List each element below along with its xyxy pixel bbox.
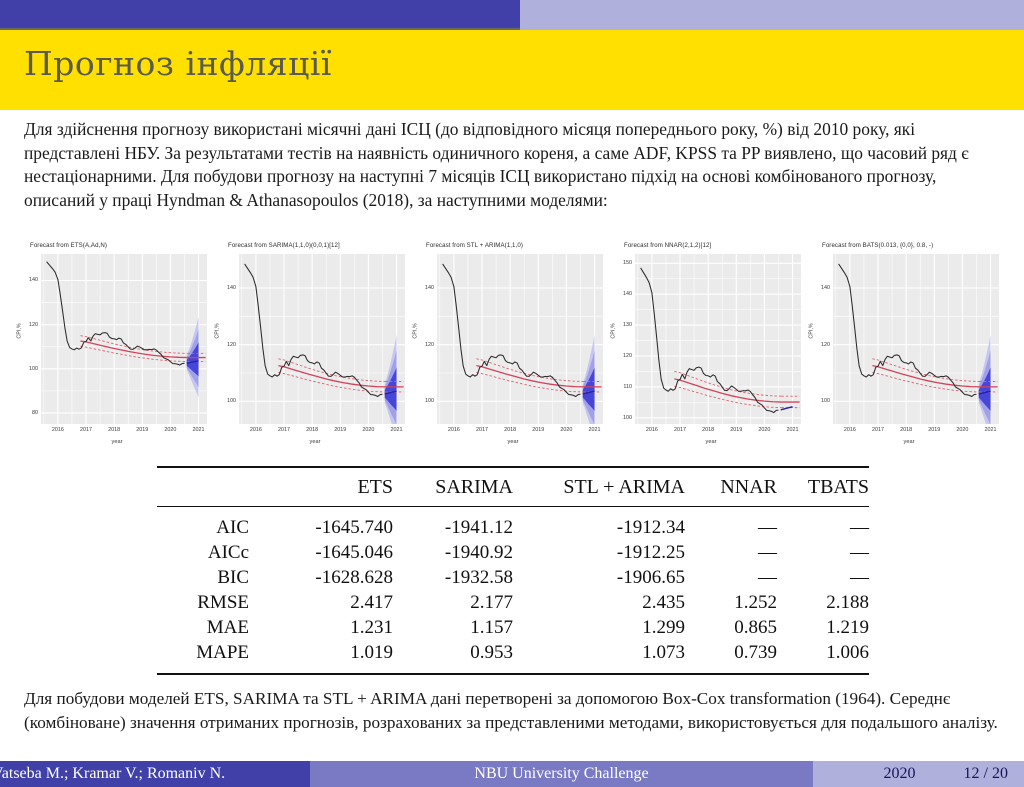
chart-x-tick: 2017 <box>278 427 290 433</box>
table-cell: 0.865 <box>685 615 777 640</box>
table-row: AIC -1645.740 -1941.12 -1912.34 — — <box>157 515 869 540</box>
chart-x-axis-label: year <box>612 439 810 445</box>
table-cell: -1912.34 <box>513 515 685 540</box>
chart-y-tick: 120 <box>425 342 434 348</box>
forecast-chart-bats: Forecast from BATS(0.013, {0,0}, 0.8, -)… <box>810 240 1008 445</box>
table-row: MAPE 1.019 0.953 1.073 0.739 1.006 <box>157 640 869 665</box>
chart-plot-area: 80100120140201620172018201920202021 <box>41 254 207 424</box>
chart-x-tick: 2016 <box>844 427 856 433</box>
chart-x-tick: 2017 <box>872 427 884 433</box>
metrics-table-body: AIC -1645.740 -1941.12 -1912.34 — — AICc… <box>157 507 869 675</box>
table-rule-cell <box>777 507 869 516</box>
chart-y-axis-label: CPI,% <box>17 323 23 338</box>
table-cell: 0.953 <box>393 640 513 665</box>
chart-x-tick: 2017 <box>476 427 488 433</box>
forecast-chart-strip: Forecast from ETS(A,Ad,N) CPI,% 80100120… <box>18 240 1010 445</box>
table-rule-cell <box>685 665 777 674</box>
table-row: BIC -1628.628 -1932.58 -1906.65 — — <box>157 565 869 590</box>
chart-y-axis-label: CPI,% <box>809 323 815 338</box>
chart-plot-area: 100120140201620172018201920202021 <box>833 254 999 424</box>
table-rule-cell <box>157 507 275 516</box>
table-rule-cell <box>513 665 685 674</box>
table-row-label: RMSE <box>157 590 275 615</box>
table-cell: 1.157 <box>393 615 513 640</box>
table-cell: -1645.740 <box>275 515 393 540</box>
table-rule-cell <box>513 507 685 516</box>
chart-x-tick: 2016 <box>646 427 658 433</box>
chart-y-tick: 110 <box>623 384 632 390</box>
chart-x-tick: 2020 <box>956 427 968 433</box>
table-col-header-nnar: NNAR <box>685 467 777 507</box>
footer-conference: NBU University Challenge <box>310 761 813 787</box>
table-rule-row <box>157 665 869 674</box>
table-rule-cell <box>157 665 275 674</box>
chart-x-tick: 2016 <box>448 427 460 433</box>
chart-x-axis-label: year <box>414 439 612 445</box>
table-rule-cell <box>393 507 513 516</box>
slide-footer: Vatseba M.; Kramar V.; Romaniv N. NBU Un… <box>0 761 1024 787</box>
table-cell: -1940.92 <box>393 540 513 565</box>
chart-y-tick: 150 <box>623 260 632 266</box>
chart-title: Forecast from NNAR(2,1,2)[12] <box>624 242 711 249</box>
footer-page-number: 12 / 20 <box>964 765 1008 783</box>
chart-svg <box>635 254 801 424</box>
table-cell: — <box>685 540 777 565</box>
chart-y-tick: 100 <box>425 398 434 404</box>
table-cell: — <box>685 565 777 590</box>
table-cell: — <box>685 515 777 540</box>
chart-x-tick: 2019 <box>136 427 148 433</box>
table-rule-cell <box>275 507 393 516</box>
chart-y-tick: 140 <box>425 285 434 291</box>
chart-y-axis-label: CPI,% <box>413 323 419 338</box>
table-cell: — <box>777 515 869 540</box>
table-row: RMSE 2.417 2.177 2.435 1.252 2.188 <box>157 590 869 615</box>
table-col-header-metric <box>157 467 275 507</box>
chart-title: Forecast from SARIMA(1,1,0)(0,0,1)[12] <box>228 242 340 249</box>
table-cell: -1906.65 <box>513 565 685 590</box>
table-cell: 2.188 <box>777 590 869 615</box>
table-cell: 2.177 <box>393 590 513 615</box>
chart-y-tick: 140 <box>29 277 38 283</box>
chart-y-tick: 140 <box>821 285 830 291</box>
chart-y-tick: 100 <box>29 366 38 372</box>
chart-title: Forecast from ETS(A,Ad,N) <box>30 242 107 249</box>
chart-title: Forecast from STL + ARIMA(1,1,0) <box>426 242 523 249</box>
table-cell: -1645.046 <box>275 540 393 565</box>
table-rule-cell <box>393 665 513 674</box>
chart-svg <box>833 254 999 424</box>
footer-authors: Vatseba M.; Kramar V.; Romaniv N. <box>0 761 310 787</box>
page-title: Прогноз інфляції <box>24 47 332 80</box>
table-row-label: BIC <box>157 565 275 590</box>
top-band-dark <box>0 0 520 30</box>
table-cell: -1932.58 <box>393 565 513 590</box>
chart-y-tick: 130 <box>623 322 632 328</box>
table-cell: 2.417 <box>275 590 393 615</box>
chart-y-tick: 120 <box>227 342 236 348</box>
metrics-table-head: ETS SARIMA STL + ARIMA NNAR TBATS <box>157 467 869 507</box>
table-row-label: AICc <box>157 540 275 565</box>
chart-x-tick: 2018 <box>108 427 120 433</box>
table-cell: 1.252 <box>685 590 777 615</box>
chart-x-tick: 2019 <box>730 427 742 433</box>
table-header-row: ETS SARIMA STL + ARIMA NNAR TBATS <box>157 467 869 507</box>
chart-y-tick: 140 <box>623 291 632 297</box>
chart-x-axis-label: year <box>810 439 1008 445</box>
chart-x-tick: 2020 <box>758 427 770 433</box>
top-band-light <box>520 0 1024 30</box>
chart-x-tick: 2018 <box>504 427 516 433</box>
intro-paragraph: Для здійснення прогнозу використані міся… <box>24 118 1004 212</box>
table-cell: 1.019 <box>275 640 393 665</box>
table-cell: 1.299 <box>513 615 685 640</box>
chart-y-tick: 120 <box>821 342 830 348</box>
chart-y-tick: 80 <box>32 410 38 416</box>
chart-svg <box>437 254 603 424</box>
chart-x-tick: 2019 <box>334 427 346 433</box>
table-row-label: AIC <box>157 515 275 540</box>
chart-y-axis-label: CPI,% <box>215 323 221 338</box>
table-cell: -1912.25 <box>513 540 685 565</box>
chart-x-tick: 2019 <box>928 427 940 433</box>
chart-y-tick: 120 <box>623 353 632 359</box>
chart-x-tick: 2018 <box>900 427 912 433</box>
table-row: AICc -1645.046 -1940.92 -1912.25 — — <box>157 540 869 565</box>
footer-year: 2020 <box>884 765 916 783</box>
forecast-chart-sarima: Forecast from SARIMA(1,1,0)(0,0,1)[12] C… <box>216 240 414 445</box>
forecast-chart-stl-arima: Forecast from STL + ARIMA(1,1,0) CPI,% 1… <box>414 240 612 445</box>
chart-y-tick: 100 <box>623 415 632 421</box>
chart-svg <box>239 254 405 424</box>
chart-x-tick: 2018 <box>702 427 714 433</box>
table-row: MAE 1.231 1.157 1.299 0.865 1.219 <box>157 615 869 640</box>
table-cell: 2.435 <box>513 590 685 615</box>
chart-y-tick: 100 <box>227 398 236 404</box>
table-rule-cell <box>777 665 869 674</box>
table-col-header-stl-arima: STL + ARIMA <box>513 467 685 507</box>
top-decorative-band <box>0 0 1024 30</box>
chart-x-axis-label: year <box>216 439 414 445</box>
table-rule-row <box>157 507 869 516</box>
table-row-label: MAPE <box>157 640 275 665</box>
table-row-label: MAE <box>157 615 275 640</box>
chart-y-tick: 100 <box>821 398 830 404</box>
table-cell: -1941.12 <box>393 515 513 540</box>
table-col-header-ets: ETS <box>275 467 393 507</box>
table-cell: 1.219 <box>777 615 869 640</box>
chart-x-tick: 2021 <box>985 427 997 433</box>
metrics-table: ETS SARIMA STL + ARIMA NNAR TBATS AIC -1… <box>157 466 869 675</box>
table-cell: — <box>777 540 869 565</box>
footer-authors-text: Vatseba M.; Kramar V.; Romaniv N. <box>0 765 225 783</box>
table-cell: 1.006 <box>777 640 869 665</box>
chart-svg <box>41 254 207 424</box>
chart-plot-area: 1001101201301401502016201720182019202020… <box>635 254 801 424</box>
chart-x-tick: 2018 <box>306 427 318 433</box>
chart-title: Forecast from BATS(0.013, {0,0}, 0.8, -) <box>822 242 933 249</box>
table-cell: — <box>777 565 869 590</box>
chart-x-tick: 2021 <box>589 427 601 433</box>
chart-x-axis-label: year <box>18 439 216 445</box>
forecast-chart-nnar: Forecast from NNAR(2,1,2)[12] CPI,% 1001… <box>612 240 810 445</box>
chart-x-tick: 2020 <box>362 427 374 433</box>
chart-y-tick: 120 <box>29 322 38 328</box>
chart-x-tick: 2017 <box>80 427 92 433</box>
chart-plot-area: 100120140201620172018201920202021 <box>239 254 405 424</box>
chart-x-tick: 2016 <box>52 427 64 433</box>
table-cell: -1628.628 <box>275 565 393 590</box>
table-cell: 1.073 <box>513 640 685 665</box>
table-rule-cell <box>685 507 777 516</box>
chart-x-tick: 2021 <box>787 427 799 433</box>
metrics-table-wrapper: ETS SARIMA STL + ARIMA NNAR TBATS AIC -1… <box>157 466 869 675</box>
table-rule-cell <box>275 665 393 674</box>
chart-x-tick: 2021 <box>193 427 205 433</box>
chart-plot-area: 100120140201620172018201920202021 <box>437 254 603 424</box>
table-col-header-tbats: TBATS <box>777 467 869 507</box>
chart-y-axis-label: CPI,% <box>611 323 617 338</box>
table-cell: 0.739 <box>685 640 777 665</box>
footer-meta: 2020 12 / 20 <box>813 761 1024 787</box>
chart-x-tick: 2021 <box>391 427 403 433</box>
chart-x-tick: 2016 <box>250 427 262 433</box>
closing-paragraph: Для побудови моделей ETS, SARIMA та STL … <box>24 687 1004 735</box>
chart-x-tick: 2019 <box>532 427 544 433</box>
table-col-header-sarima: SARIMA <box>393 467 513 507</box>
forecast-chart-ets: Forecast from ETS(A,Ad,N) CPI,% 80100120… <box>18 240 216 445</box>
chart-x-tick: 2017 <box>674 427 686 433</box>
table-cell: 1.231 <box>275 615 393 640</box>
chart-y-tick: 140 <box>227 285 236 291</box>
chart-x-tick: 2020 <box>560 427 572 433</box>
chart-x-tick: 2020 <box>164 427 176 433</box>
